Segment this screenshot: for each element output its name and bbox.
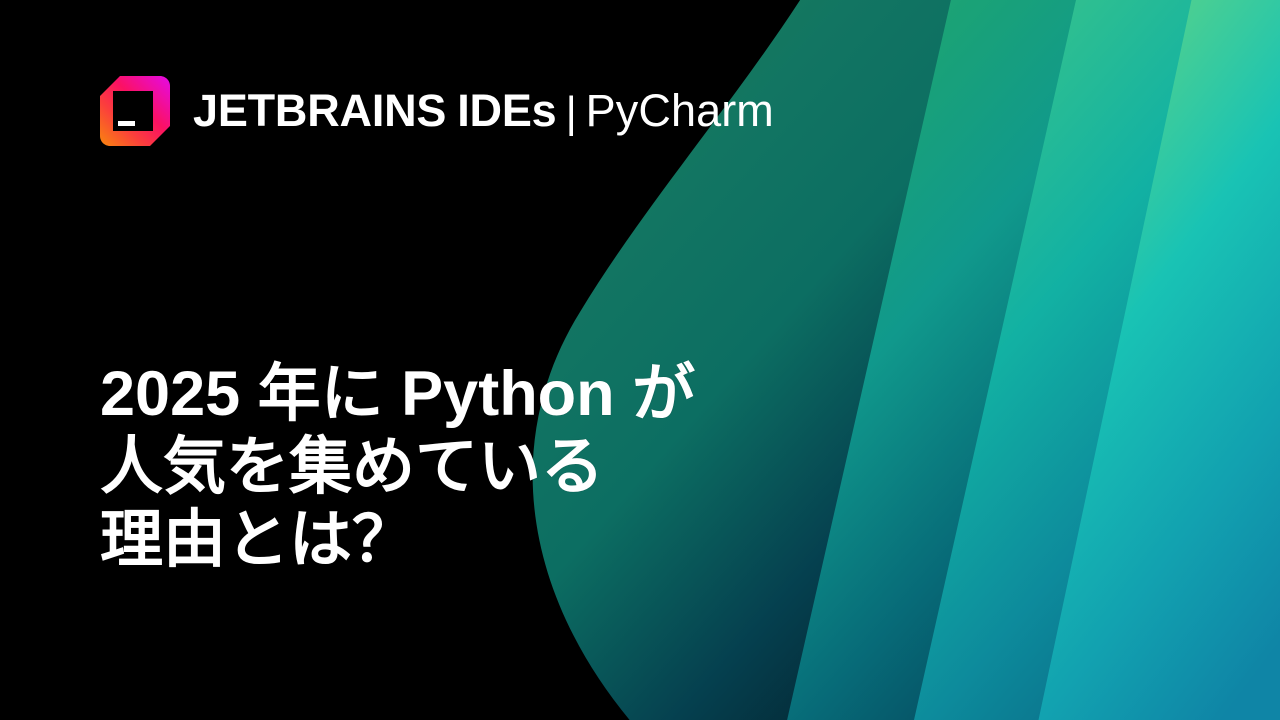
brand-wordmark: JETBRAINS IDEs | PyCharm: [193, 88, 774, 134]
brand-lockup: JETBRAINS IDEs | PyCharm: [98, 74, 774, 148]
page-title: 2025 年に Python が 人気を集めている 理由とは？: [100, 358, 695, 577]
wordmark-pycharm: PyCharm: [586, 88, 774, 133]
headline-line-3: 理由とは？: [100, 504, 695, 577]
wordmark-separator: |: [557, 91, 586, 135]
jetbrains-ides-logo-icon: [98, 74, 172, 148]
wordmark-ides: IDEs: [457, 88, 556, 133]
headline-line-2: 人気を集めている: [100, 431, 695, 504]
slide-canvas: JETBRAINS IDEs | PyCharm 2025 年に Python …: [0, 0, 1280, 720]
headline-line-1: 2025 年に Python が: [100, 358, 695, 431]
wordmark-jetbrains: JETBRAINS: [193, 88, 446, 133]
